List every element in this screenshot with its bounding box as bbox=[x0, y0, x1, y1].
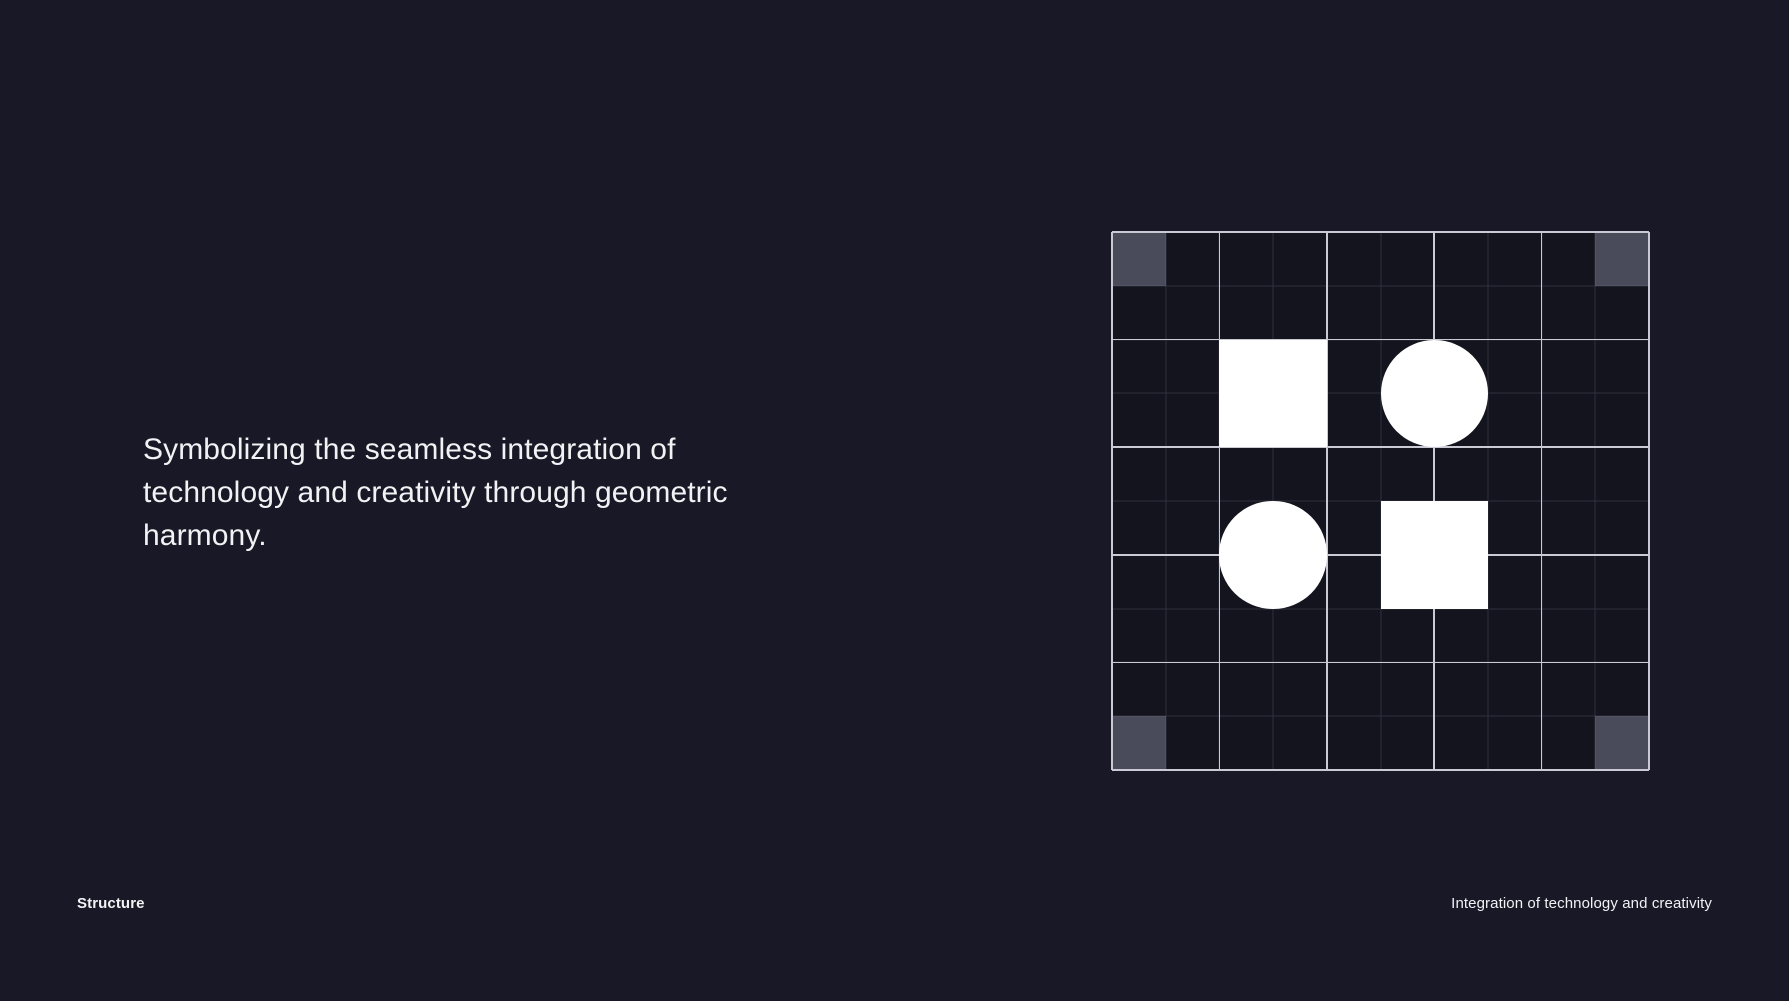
grid-cell bbox=[1219, 393, 1273, 447]
grid-cell bbox=[1595, 447, 1649, 501]
grid-cell bbox=[1542, 393, 1596, 447]
grid-cell bbox=[1542, 447, 1596, 501]
grid-accent-cell bbox=[1112, 232, 1166, 286]
grid-cell bbox=[1434, 662, 1488, 716]
grid-cell bbox=[1166, 501, 1220, 555]
grid-cell bbox=[1488, 555, 1542, 609]
footer-left-label: Structure bbox=[77, 893, 145, 915]
grid-cell bbox=[1595, 393, 1649, 447]
page-title: Symbolizing the seamless integration of … bbox=[143, 428, 763, 557]
grid-cell bbox=[1381, 232, 1435, 286]
grid-cell bbox=[1434, 393, 1488, 447]
grid-cell bbox=[1327, 447, 1381, 501]
grid-cell bbox=[1112, 286, 1166, 340]
grid-cell bbox=[1542, 340, 1596, 394]
grid-cell bbox=[1381, 393, 1435, 447]
grid-cell bbox=[1595, 609, 1649, 663]
grid-cell bbox=[1542, 232, 1596, 286]
grid-cell bbox=[1488, 662, 1542, 716]
grid-cell bbox=[1381, 286, 1435, 340]
grid-cell bbox=[1488, 716, 1542, 770]
grid-cell bbox=[1488, 609, 1542, 663]
grid-cell bbox=[1488, 393, 1542, 447]
grid-cell bbox=[1488, 340, 1542, 394]
grid-cell bbox=[1112, 555, 1166, 609]
grid-cell bbox=[1327, 501, 1381, 555]
grid-cell bbox=[1434, 555, 1488, 609]
grid-cell bbox=[1166, 340, 1220, 394]
grid-cell bbox=[1542, 286, 1596, 340]
grid-cell bbox=[1327, 716, 1381, 770]
grid-cell bbox=[1112, 340, 1166, 394]
grid-cell bbox=[1219, 232, 1273, 286]
grid-cell bbox=[1166, 232, 1220, 286]
grid-cell bbox=[1166, 286, 1220, 340]
grid-cell bbox=[1112, 662, 1166, 716]
grid-cell bbox=[1381, 501, 1435, 555]
grid-cell bbox=[1112, 447, 1166, 501]
grid-cell bbox=[1488, 232, 1542, 286]
grid-cell bbox=[1219, 340, 1273, 394]
grid-cell bbox=[1542, 609, 1596, 663]
grid-cell bbox=[1327, 232, 1381, 286]
grid-cell bbox=[1219, 662, 1273, 716]
grid-cell bbox=[1595, 662, 1649, 716]
grid-cell bbox=[1219, 609, 1273, 663]
grid-cell bbox=[1542, 662, 1596, 716]
grid-cell bbox=[1166, 447, 1220, 501]
grid-cell bbox=[1112, 501, 1166, 555]
grid-cell bbox=[1434, 501, 1488, 555]
grid-cell bbox=[1219, 286, 1273, 340]
grid-cell bbox=[1327, 609, 1381, 663]
grid-cells bbox=[1112, 232, 1649, 770]
grid-cell bbox=[1273, 662, 1327, 716]
grid-cell bbox=[1219, 501, 1273, 555]
grid-cell bbox=[1219, 716, 1273, 770]
grid-cell bbox=[1381, 716, 1435, 770]
grid-cell bbox=[1327, 340, 1381, 394]
grid-accent-cell bbox=[1595, 716, 1649, 770]
grid-accent-cell bbox=[1112, 716, 1166, 770]
grid-cell bbox=[1273, 393, 1327, 447]
grid-cell bbox=[1327, 555, 1381, 609]
grid-cell bbox=[1219, 447, 1273, 501]
grid-cell bbox=[1381, 340, 1435, 394]
grid-cell bbox=[1542, 716, 1596, 770]
grid-cell bbox=[1273, 501, 1327, 555]
grid-cell bbox=[1434, 609, 1488, 663]
grid-cell bbox=[1542, 555, 1596, 609]
grid-cell bbox=[1488, 501, 1542, 555]
grid-cell bbox=[1488, 286, 1542, 340]
grid-cell bbox=[1273, 447, 1327, 501]
grid-cell bbox=[1166, 716, 1220, 770]
grid-cell bbox=[1327, 662, 1381, 716]
grid-cell bbox=[1273, 232, 1327, 286]
grid-cell bbox=[1219, 555, 1273, 609]
footer-right-label: Integration of technology and creativity bbox=[1451, 893, 1712, 915]
grid-cell bbox=[1273, 609, 1327, 663]
grid-cell bbox=[1595, 555, 1649, 609]
grid-cell bbox=[1112, 393, 1166, 447]
grid-cell bbox=[1595, 501, 1649, 555]
grid-cell bbox=[1434, 286, 1488, 340]
grid-cell bbox=[1166, 662, 1220, 716]
grid-cell bbox=[1595, 286, 1649, 340]
grid-cell bbox=[1273, 340, 1327, 394]
grid-accent-cell bbox=[1595, 232, 1649, 286]
grid-cell bbox=[1166, 393, 1220, 447]
grid-cell bbox=[1434, 447, 1488, 501]
grid-cell bbox=[1381, 555, 1435, 609]
slide-canvas: Symbolizing the seamless integration of … bbox=[0, 0, 1789, 1001]
grid-cell bbox=[1112, 609, 1166, 663]
grid-cell bbox=[1381, 447, 1435, 501]
grid-cell bbox=[1273, 716, 1327, 770]
grid-cell bbox=[1327, 286, 1381, 340]
grid-cell bbox=[1434, 232, 1488, 286]
grid-cell bbox=[1595, 340, 1649, 394]
grid-cell bbox=[1488, 447, 1542, 501]
grid-cell bbox=[1381, 662, 1435, 716]
geometric-figure bbox=[1112, 232, 1649, 770]
grid-cell bbox=[1166, 555, 1220, 609]
grid-cell bbox=[1273, 286, 1327, 340]
grid-cell bbox=[1381, 609, 1435, 663]
grid-cell bbox=[1434, 340, 1488, 394]
grid-cell bbox=[1434, 716, 1488, 770]
grid-cell bbox=[1166, 609, 1220, 663]
grid-cell bbox=[1273, 555, 1327, 609]
grid-cell bbox=[1542, 501, 1596, 555]
grid-cell bbox=[1327, 393, 1381, 447]
